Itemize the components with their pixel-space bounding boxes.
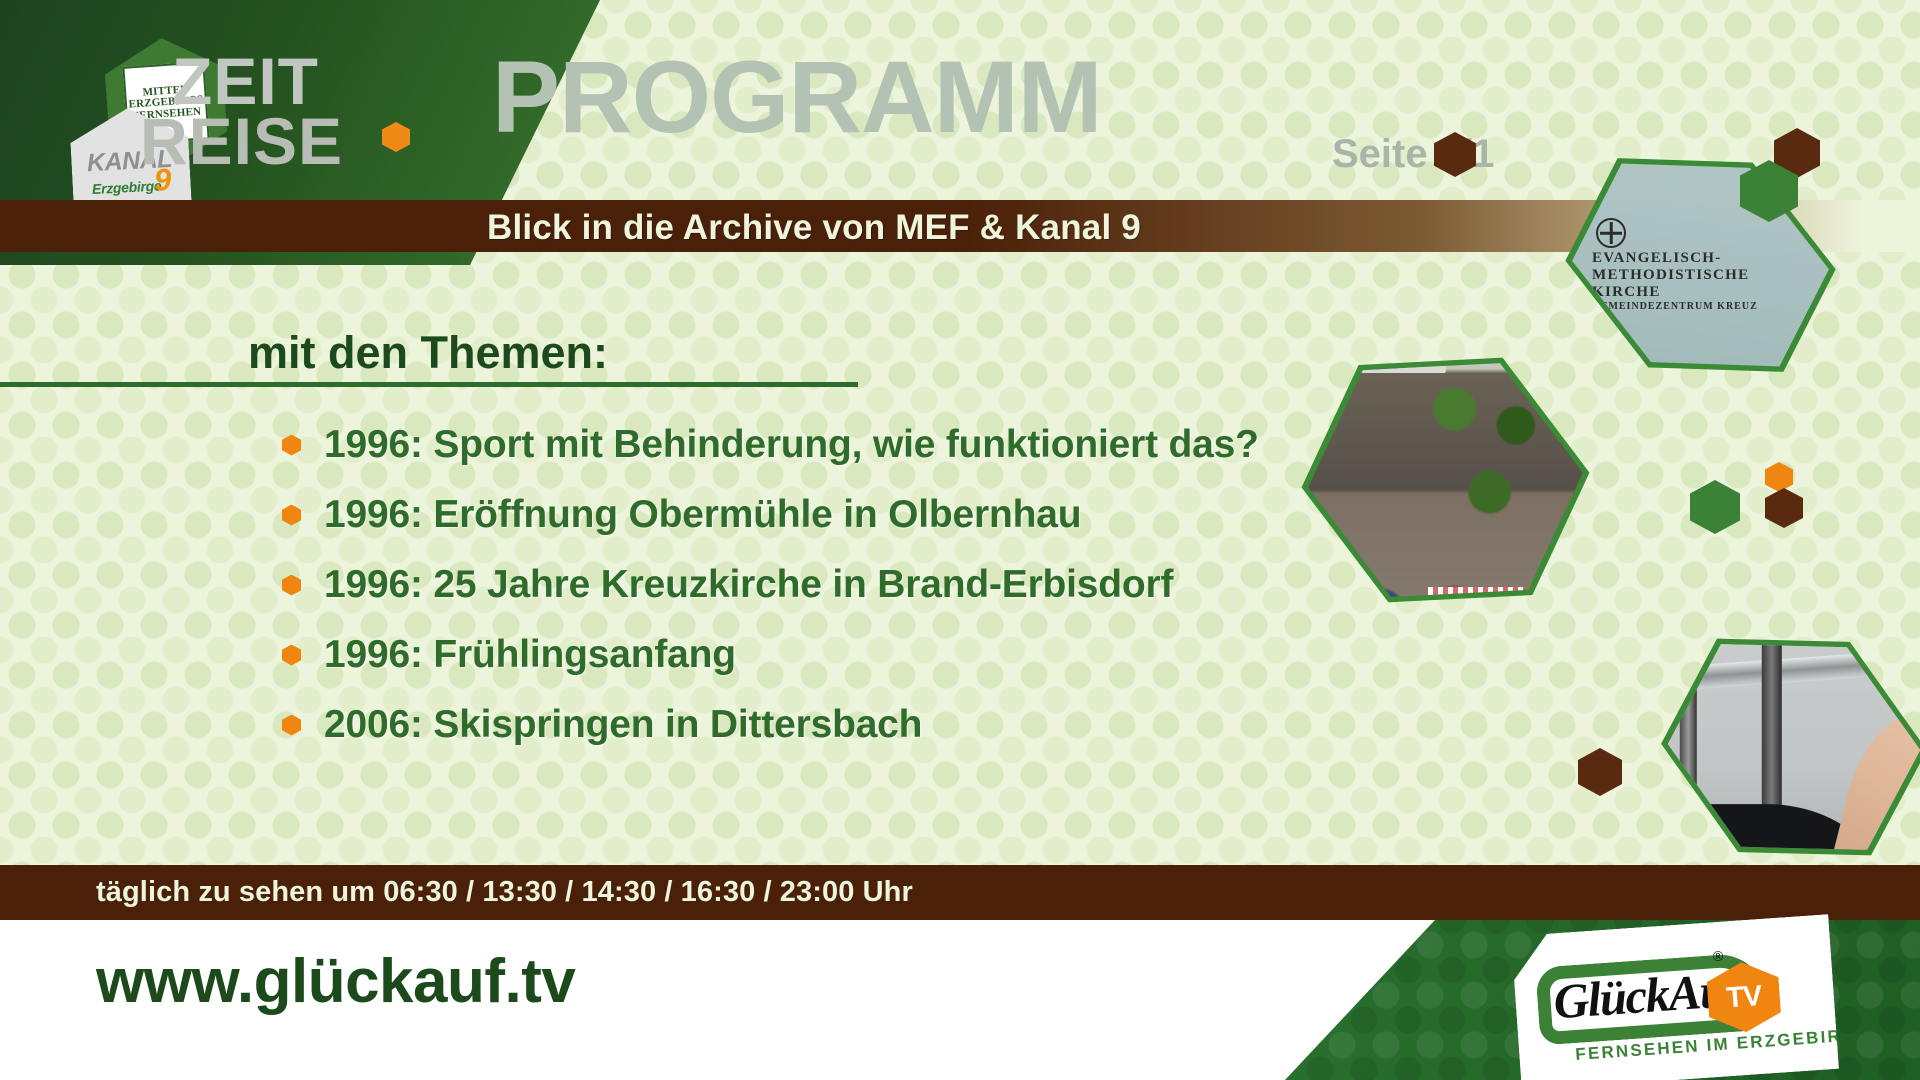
list-item-label: 1996: Frühlingsanfang (324, 633, 736, 677)
church-sign-line-2: METHODISTISCHE (1592, 267, 1749, 284)
church-sign-subline: GEMEINDEZENTRUM KREUZ (1592, 301, 1758, 312)
list-item: 1996: Sport mit Behinderung, wie funktio… (282, 410, 1332, 480)
list-item: 2006: Skispringen in Dittersbach (282, 690, 1332, 760)
orange-hexagon-accent-icon (1765, 462, 1793, 492)
brown-hexagon-accent-icon (1765, 488, 1803, 528)
list-item-label: 2006: Skispringen in Dittersbach (324, 703, 922, 747)
brown-hexagon-accent-icon (1578, 748, 1622, 796)
church-sign-line-3: KIRCHE (1592, 284, 1661, 301)
list-item: 1996: Frühlingsanfang (282, 620, 1332, 690)
show-title-line-2: REISE (140, 110, 343, 173)
hexagon-bullet-icon (282, 645, 301, 666)
hexagon-bullet-icon (282, 505, 301, 526)
church-sign-line-1: EVANGELISCH- (1592, 250, 1722, 267)
program-slate: MITTEL ERZGEBIRGS FERNSEHEN KANAL Erzgeb… (0, 0, 1920, 1080)
broadcast-times-text: täglich zu sehen um 06:30 / 13:30 / 14:3… (96, 876, 913, 909)
cafe-sign-line-2: Obermühle (1334, 345, 1374, 354)
registered-trademark-icon: ® (1712, 948, 1723, 965)
subtitle-text: Blick in die Archive von MEF & Kanal 9 (487, 208, 1141, 248)
list-item: 1996: 25 Jahre Kreuzkirche in Brand-Erbi… (282, 550, 1332, 620)
photo-image (1641, 594, 1920, 900)
list-item-label: 1996: Sport mit Behinderung, wie funktio… (324, 423, 1259, 467)
cafe-sign-line-1: oyer Café (1329, 333, 1379, 345)
page-title: PROGRAMM (492, 46, 1102, 148)
hexagon-bullet-icon (282, 715, 301, 736)
green-hexagon-accent-icon (1690, 480, 1740, 534)
hexagon-bullet-icon (282, 435, 301, 456)
hexagon-bullet-icon (282, 575, 301, 596)
section-heading: mit den Themen: (248, 327, 608, 379)
gym-scene (1641, 594, 1920, 900)
list-item-label: 1996: 25 Jahre Kreuzkirche in Brand-Erbi… (324, 563, 1173, 607)
list-item: 1996: Eröffnung Obermühle in Olbernhau (282, 480, 1332, 550)
topic-list: 1996: Sport mit Behinderung, wie funktio… (282, 410, 1332, 760)
glueckauf-tv-logo: GlückAuf! ® TV FERNSEHEN IM ERZGEBIRGE (1511, 914, 1839, 1080)
gym-training-photo (1633, 586, 1920, 908)
machine-post (1761, 594, 1781, 828)
kanal9-logo-region: Erzgebirge (92, 177, 162, 197)
website-url[interactable]: www.glückauf.tv (96, 946, 575, 1017)
tv-badge-label: TV (1725, 980, 1762, 1015)
section-heading-rule (0, 382, 858, 387)
list-item-label: 1996: Eröffnung Obermühle in Olbernhau (324, 493, 1081, 537)
cross-icon (1596, 218, 1626, 248)
